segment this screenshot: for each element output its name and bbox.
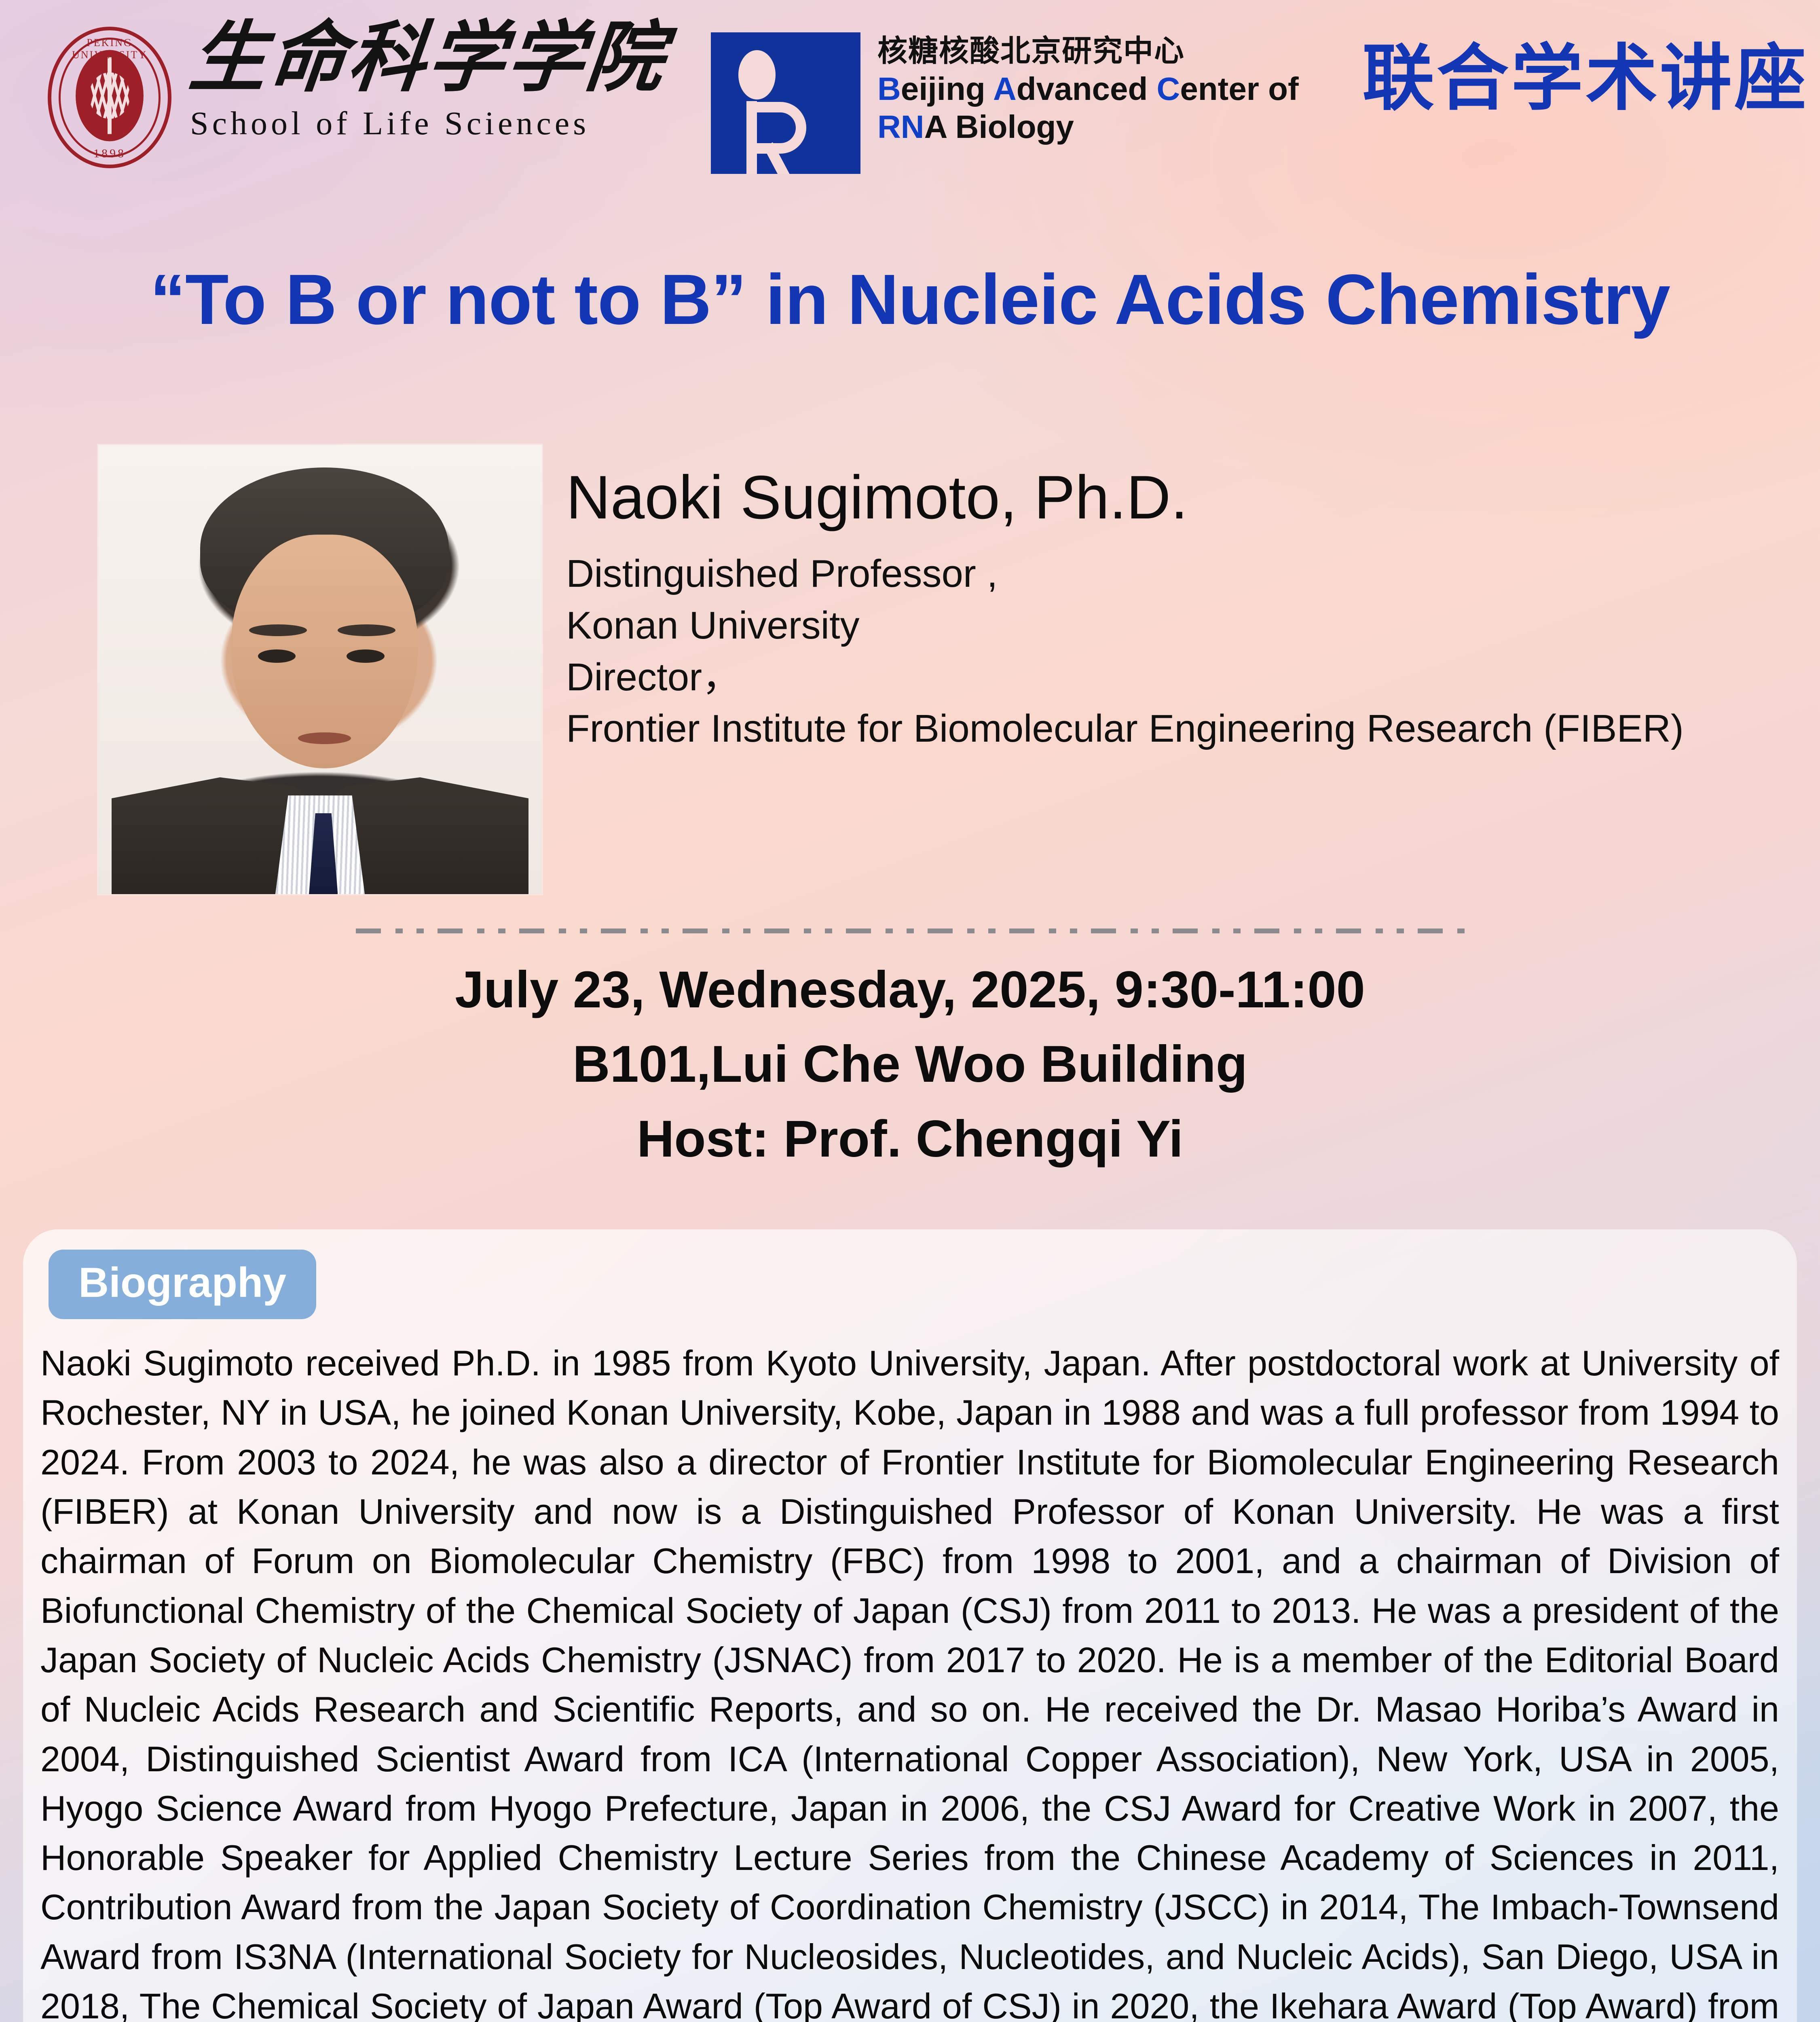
speaker-section: Naoki Sugimoto, Ph.D. Distinguished Prof… [0, 441, 1820, 869]
center-line1-b: dvanced [1017, 71, 1157, 107]
speaker-affiliation-line: Distinguished Professor , [566, 548, 1771, 600]
section-divider [356, 929, 1472, 933]
school-name-english: School of Life Sciences [190, 104, 671, 142]
biography-badge: Biography [49, 1250, 316, 1319]
center-name-chinese: 核糖核酸北京研究中心 [877, 27, 1310, 70]
event-host: Host: Prof. Chengqi Yi [0, 1102, 1820, 1176]
event-datetime: July 23, Wednesday, 2025, 9:30-11:00 [0, 953, 1820, 1027]
school-name-chinese: 生命科学学院 [186, 20, 675, 97]
center-line2-rest: A Biology [924, 109, 1074, 145]
center-name-english-line2: RNA Biology [877, 108, 1310, 146]
center-a-letter: A [993, 71, 1017, 107]
joint-lecture-label: 联合学术讲座 [1362, 20, 1809, 124]
peking-university-seal-icon: PEKING UNIVERSITY 1898 [48, 27, 171, 168]
speaker-portrait-photo [98, 445, 542, 894]
speaker-details: Naoki Sugimoto, Ph.D. Distinguished Prof… [566, 463, 1771, 755]
speaker-name: Naoki Sugimoto, Ph.D. [566, 463, 1771, 532]
school-of-life-sciences-logo: 生命科学学院 School of Life Sciences [190, 20, 671, 142]
speaker-affiliation-line: Frontier Institute for Biomolecular Engi… [566, 703, 1771, 755]
speaker-affiliation-line: Director， [566, 651, 1771, 703]
center-c-letter: C [1157, 71, 1180, 107]
center-r-letter: R [877, 109, 901, 145]
seal-top-text: PEKING UNIVERSITY [51, 37, 168, 61]
biography-text: Naoki Sugimoto received Ph.D. in 1985 fr… [40, 1339, 1779, 2022]
event-venue: B101,Lui Che Woo Building [0, 1027, 1820, 1102]
event-details: July 23, Wednesday, 2025, 9:30-11:00 B10… [0, 953, 1820, 1176]
center-name-english-line1: Beijing Advanced Center of [877, 70, 1310, 108]
rna-biology-logo-icon [711, 32, 860, 174]
center-line1-a: eijing [901, 71, 993, 107]
center-line1-c: enter of [1180, 71, 1298, 107]
lecture-title: “To B or not to B” in Nucleic Acids Chem… [0, 259, 1820, 341]
seal-year-text: 1898 [51, 147, 168, 161]
center-b-letter: B [877, 71, 901, 107]
poster-header: PEKING UNIVERSITY 1898 生命科学学院 School of … [0, 11, 1820, 185]
speaker-affiliation-line: Konan University [566, 600, 1771, 651]
rna-center-name: 核糖核酸北京研究中心 Beijing Advanced Center of RN… [877, 27, 1310, 146]
center-n-letter: N [901, 109, 924, 145]
